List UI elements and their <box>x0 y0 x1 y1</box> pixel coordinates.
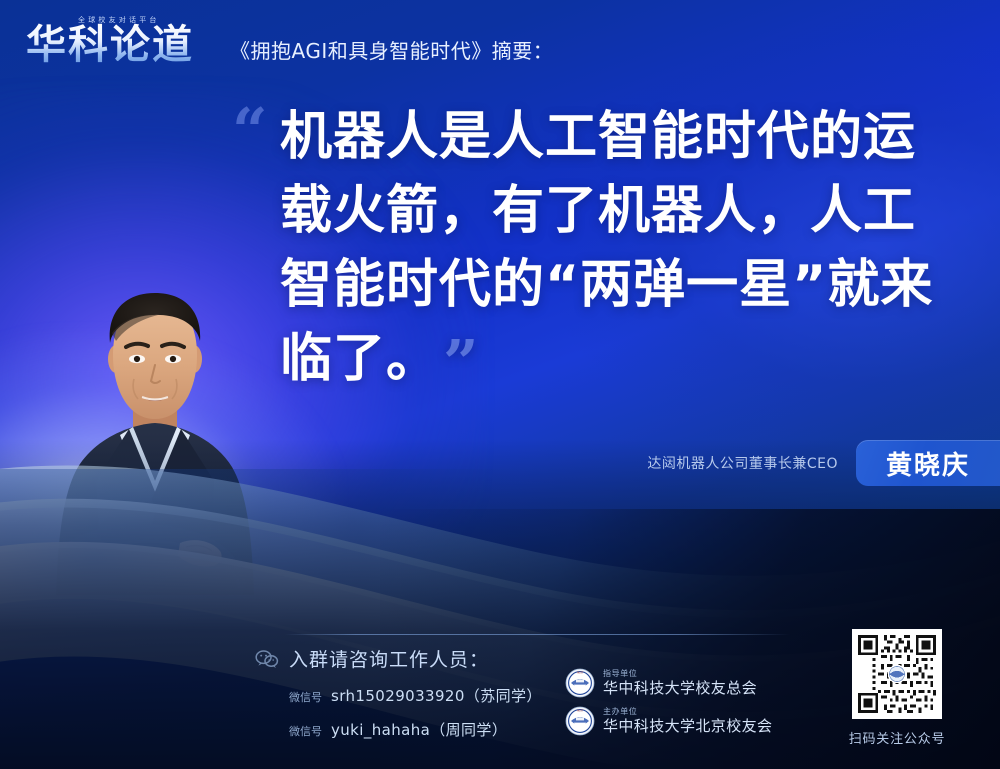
speaker-name: 黄晓庆 <box>886 445 970 482</box>
footer-divider <box>285 634 790 635</box>
organization-texts: 指导单位 华中科技大学校友总会 <box>603 670 757 696</box>
quote-text: 机器人是人工智能时代的运 载火箭，有了机器人，人工 智能时代的“两弹一星”就来 … <box>280 100 950 396</box>
wechat-icon <box>255 649 279 669</box>
footer-contact-block: 入群请咨询工作人员： 微信号 srh15029033920（苏同学） 微信号 y… <box>255 645 585 740</box>
quote-line: 机器人是人工智能时代的运 <box>280 100 950 174</box>
qr-caption: 扫码关注公众号 <box>843 728 951 747</box>
wechat-contact-row[interactable]: 微信号 yuki_hahaha（周同学） <box>255 719 585 740</box>
wechat-label: 微信号 <box>289 689 322 705</box>
hust-seal-icon: HUST <box>565 706 595 736</box>
poster-canvas: 全球校友对话平台 华科论道 《拥抱AGI和具身智能时代》摘要： “ 机器人是人工… <box>0 0 1000 769</box>
organization-kind: 指导单位 <box>603 670 757 678</box>
organization-row: HUST 指导单位 华中科技大学校友总会 <box>565 668 772 698</box>
organization-row: HUST 主办单位 华中科技大学北京校友会 <box>565 706 772 736</box>
organization-list: HUST 指导单位 华中科技大学校友总会 HUST <box>565 668 772 744</box>
brand-logo-text: 华科论道 <box>26 22 194 68</box>
quote-line-last-text: 临了。 <box>280 329 439 389</box>
qr-block: 扫码关注公众号 <box>843 629 951 747</box>
svg-text:HUST: HUST <box>577 671 584 674</box>
page-title: 《拥抱AGI和具身智能时代》摘要： <box>230 35 553 70</box>
organization-name: 华中科技大学北京校友会 <box>603 719 772 734</box>
header: 全球校友对话平台 华科论道 《拥抱AGI和具身智能时代》摘要： <box>26 14 553 70</box>
organization-kind: 主办单位 <box>603 708 772 716</box>
quote-close-mark: ” <box>443 332 480 394</box>
organization-texts: 主办单位 华中科技大学北京校友会 <box>603 708 772 734</box>
speaker-attribution: 达闼机器人公司董事长兼CEO 黄晓庆 <box>647 440 1000 486</box>
quote-line: 载火箭，有了机器人，人工 <box>280 174 950 248</box>
footer-heading: 入群请咨询工作人员： <box>289 645 489 672</box>
wechat-id: srh15029033920（苏同学） <box>331 685 542 706</box>
speaker-name-badge: 黄晓庆 <box>856 440 1000 486</box>
svg-text:HUST: HUST <box>577 709 584 712</box>
hust-seal-icon: HUST <box>565 668 595 698</box>
brand-logo[interactable]: 全球校友对话平台 华科论道 <box>26 14 216 70</box>
wechat-label: 微信号 <box>289 723 322 739</box>
organization-name: 华中科技大学校友总会 <box>603 681 757 696</box>
qr-code-icon[interactable] <box>852 629 942 719</box>
wechat-contact-row[interactable]: 微信号 srh15029033920（苏同学） <box>255 685 585 706</box>
wechat-id: yuki_hahaha（周同学） <box>331 719 507 740</box>
quote-line-last: 临了。” <box>280 322 950 396</box>
footer-heading-row: 入群请咨询工作人员： <box>255 645 585 672</box>
speaker-role: 达闼机器人公司董事长兼CEO <box>647 453 856 473</box>
quote-open-mark: “ <box>232 100 268 162</box>
quote-line: 智能时代的“两弹一星”就来 <box>280 248 950 322</box>
